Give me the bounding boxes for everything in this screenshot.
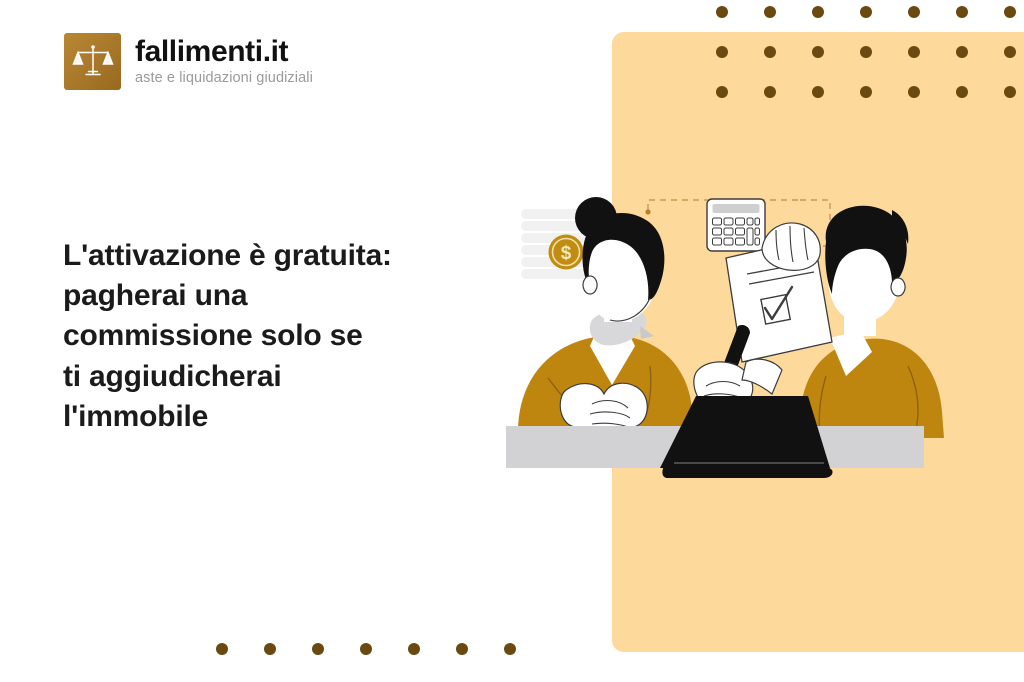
- scales-of-justice-icon: [64, 33, 121, 90]
- dot: [956, 6, 968, 18]
- dot: [312, 643, 324, 655]
- dot: [908, 6, 920, 18]
- dot: [716, 46, 728, 58]
- brand-logo[interactable]: fallimenti.it aste e liquidazioni giudiz…: [64, 33, 313, 90]
- dot: [1004, 46, 1016, 58]
- dot: [504, 643, 516, 655]
- dot: [764, 6, 776, 18]
- dot: [764, 46, 776, 58]
- svg-text:$: $: [561, 243, 572, 264]
- dot: [908, 86, 920, 98]
- banner-canvas: fallimenti.it aste e liquidazioni giudiz…: [0, 0, 1024, 682]
- dot: [764, 86, 776, 98]
- brand-subtitle: aste e liquidazioni giudiziali: [135, 71, 313, 86]
- dot: [860, 86, 872, 98]
- dot: [264, 643, 276, 655]
- hand-holding-document: [762, 223, 820, 270]
- calculator-icon: [707, 199, 765, 251]
- dollar-coin-icon: $: [549, 235, 584, 270]
- dot: [956, 86, 968, 98]
- dot: [812, 46, 824, 58]
- dot: [812, 6, 824, 18]
- decorative-dots-top-right: [716, 0, 1024, 112]
- dot: [1004, 86, 1016, 98]
- dot: [908, 46, 920, 58]
- dot: [860, 46, 872, 58]
- page-headline: L'attivazione è gratuita: pagherai una c…: [63, 236, 483, 437]
- dot: [408, 643, 420, 655]
- dot: [360, 643, 372, 655]
- dot: [216, 643, 228, 655]
- dot: [1004, 6, 1016, 18]
- dot: [812, 86, 824, 98]
- dot: [716, 86, 728, 98]
- dot: [456, 643, 468, 655]
- dot: [860, 6, 872, 18]
- dot: [716, 6, 728, 18]
- two-people-reviewing-document-illustration: $: [500, 180, 960, 500]
- dot: [956, 46, 968, 58]
- decorative-dots-bottom-left: [216, 628, 552, 682]
- brand-title: fallimenti.it: [135, 37, 313, 67]
